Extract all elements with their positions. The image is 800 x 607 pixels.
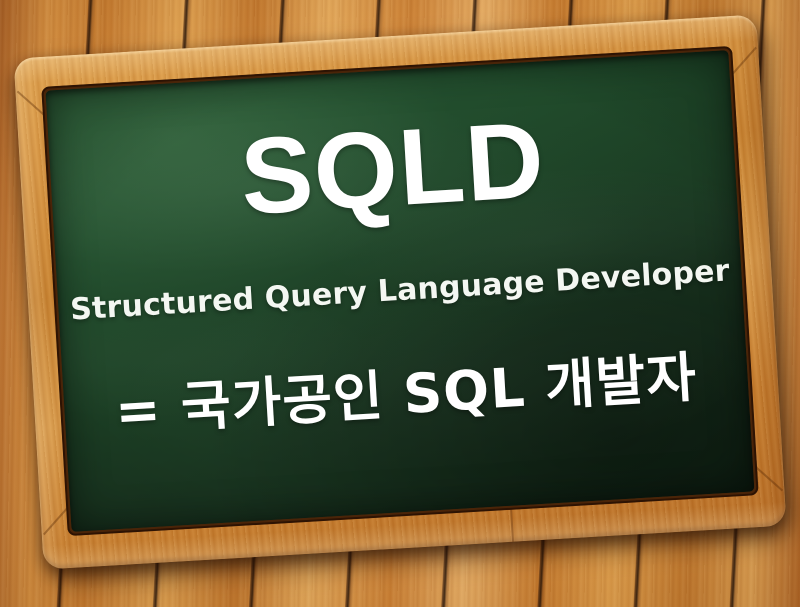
poster-stage: SQLD Structured Query Language Developer… <box>0 0 800 607</box>
frame-bottom-rail-joint <box>510 508 514 542</box>
chalkboard-text-block: SQLD Structured Query Language Developer… <box>45 50 754 532</box>
board-title: SQLD <box>238 105 548 231</box>
board-translation-korean: = 국가공인 SQL 개발자 <box>114 348 699 442</box>
chalkboard-slate: SQLD Structured Query Language Developer… <box>45 50 754 532</box>
framed-chalkboard: SQLD Structured Query Language Developer… <box>13 14 786 569</box>
board-subtitle: Structured Query Language Developer <box>69 254 730 326</box>
